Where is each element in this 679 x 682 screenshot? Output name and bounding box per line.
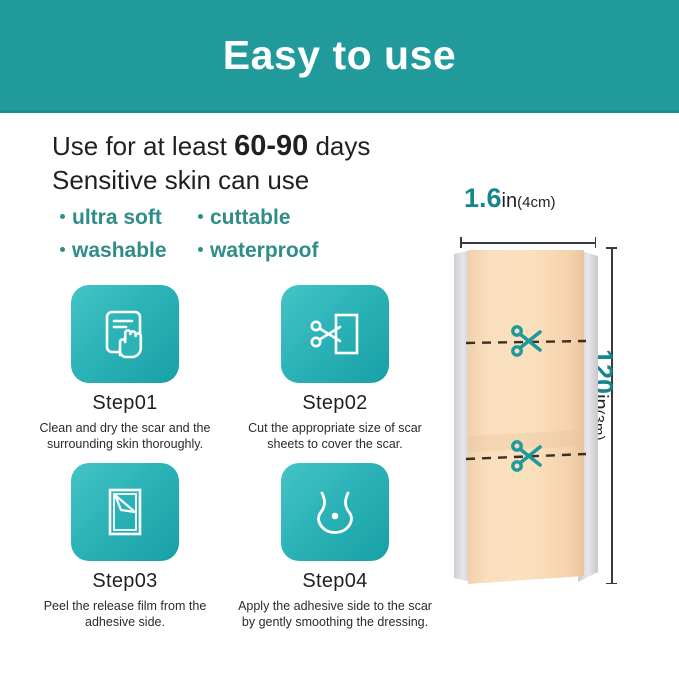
feature-label: cuttable (210, 206, 291, 229)
headline-prefix: Use for at least (52, 131, 234, 161)
step-01-tile (71, 285, 179, 383)
width-dimension-label: 1.6in(4cm) (464, 185, 555, 212)
headline-line-2: Sensitive skin can use (52, 163, 432, 197)
feature-list: ultra soft cuttable washable waterproof (60, 203, 420, 266)
sheet-face (468, 250, 584, 584)
feature-item-waterproof: waterproof (198, 236, 420, 266)
step-01-label: Step01 (92, 392, 157, 415)
step-02-tile (281, 285, 389, 383)
step-02-label: Step02 (302, 392, 367, 415)
step-card-01: Step01 Clean and dry the scar and the su… (20, 285, 230, 452)
instructions-column: Use for at least 60-90 days Sensitive sk… (0, 113, 440, 682)
headline-duration: 60-90 (234, 130, 308, 162)
steps-grid: Step01 Clean and dry the scar and the su… (20, 285, 440, 630)
headline-block: Use for at least 60-90 days Sensitive sk… (52, 129, 432, 197)
step-02-caption: Cut the appropriate size of scar sheets … (237, 420, 433, 452)
width-unit: in (502, 190, 518, 212)
torso-belly-icon (304, 481, 366, 543)
feature-label: washable (72, 239, 167, 262)
feature-item-washable: washable (60, 236, 188, 266)
feature-item-cuttable: cuttable (198, 203, 420, 233)
bullet-dot-icon (60, 214, 65, 219)
step-card-04: Step04 Apply the adhesive side to the sc… (230, 463, 440, 630)
headline-line-1: Use for at least 60-90 days (52, 129, 432, 163)
steps-row-bottom: Step03 Peel the release film from the ad… (20, 463, 440, 630)
step-card-02: Step02 Cut the appropriate size of scar … (230, 285, 440, 452)
peel-release-film-icon (94, 481, 156, 543)
step-01-caption: Clean and dry the scar and the surroundi… (27, 420, 223, 452)
feature-item-ultra-soft: ultra soft (60, 203, 188, 233)
hand-wiping-sheet-icon (94, 303, 156, 365)
scar-sheet-roll-illustration (446, 246, 606, 586)
step-04-caption: Apply the adhesive side to the scar by g… (237, 598, 433, 630)
width-metric: (4cm) (517, 194, 555, 211)
feature-label: waterproof (210, 239, 319, 262)
headline-suffix: days (308, 131, 370, 161)
dimension-bar (460, 242, 596, 244)
feature-label: ultra soft (72, 206, 162, 229)
step-04-tile (281, 463, 389, 561)
bullet-dot-icon (198, 247, 203, 252)
page-title: Easy to use (223, 35, 456, 76)
steps-row-top: Step01 Clean and dry the scar and the su… (20, 285, 440, 452)
step-04-label: Step04 (302, 570, 367, 593)
step-03-caption: Peel the release film from the adhesive … (27, 598, 223, 630)
bullet-dot-icon (198, 214, 203, 219)
step-card-03: Step03 Peel the release film from the ad… (20, 463, 230, 630)
bullet-dot-icon (60, 247, 65, 252)
header-banner: Easy to use (0, 0, 679, 113)
product-column: 1.6in(4cm) 120in(3m) (440, 113, 679, 682)
width-value: 1.6 (464, 183, 502, 213)
scissors-cutting-sheet-icon (304, 303, 366, 365)
product-image-scar-sheet-roll (446, 246, 606, 586)
dimension-end-cap-bottom (606, 583, 617, 585)
step-03-label: Step03 (92, 570, 157, 593)
step-03-tile (71, 463, 179, 561)
